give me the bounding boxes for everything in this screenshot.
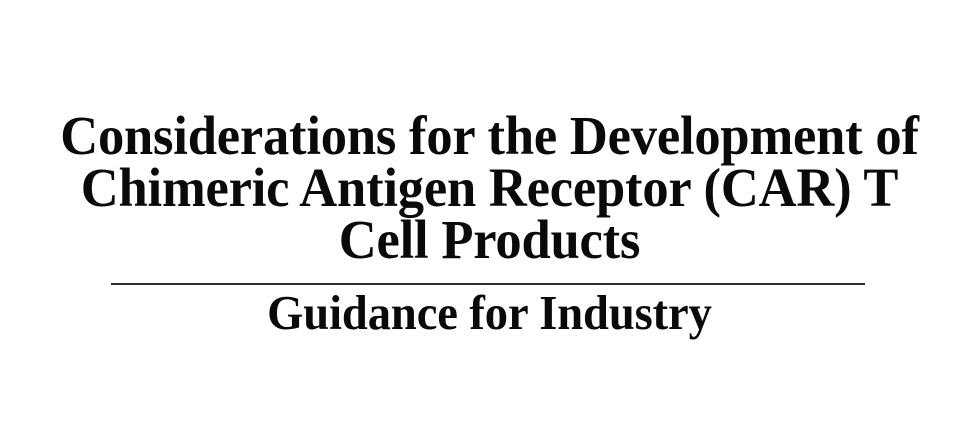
title-line-2: Chimeric Antigen Receptor (CAR) T <box>22 162 957 214</box>
subtitle-text: Guidance for Industry <box>24 287 954 339</box>
title-line-1: Considerations for the Development of <box>22 110 957 162</box>
document-title-page: Considerations for the Development of Ch… <box>0 0 979 423</box>
page-subtitle: Guidance for Industry <box>0 287 979 339</box>
page-title: Considerations for the Development of Ch… <box>0 110 979 266</box>
title-line-3: Cell Products <box>22 214 957 266</box>
